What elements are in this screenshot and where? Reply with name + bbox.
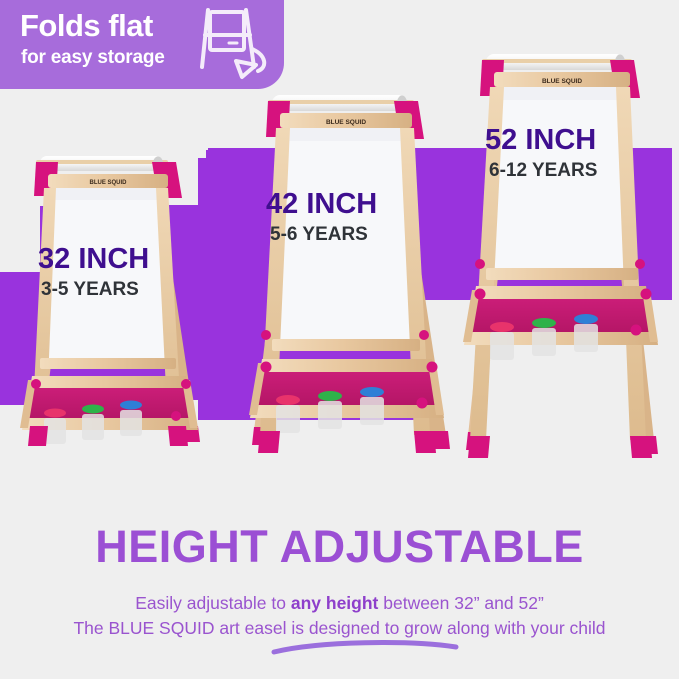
product-infographic: BLUE SQUID 32 INC [0,0,679,679]
brand-label-32: BLUE SQUID [89,180,127,186]
size-label-group-52: 52 INCH 6-12 YEARS [485,126,597,180]
brand-label-42: BLUE SQUID [326,119,366,126]
subline-1-emphasis: any height [291,593,379,613]
brand-label-52: BLUE SQUID [542,78,582,85]
age-label-52: 6-12 YEARS [489,161,597,180]
age-label-32: 3-5 YEARS [41,280,149,299]
size-label-group-42: 42 INCH 5-6 YEARS [266,190,377,244]
page-headline: HEIGHT ADJUSTABLE [0,524,679,569]
size-label-32: 32 INCH [38,245,149,274]
easel-52: BLUE SQUID [440,40,679,500]
subline-1-suffix: between 32” and 52” [378,593,543,613]
underline-swoosh [270,636,460,658]
subline-1: Easily adjustable to any height between … [0,592,679,615]
easel-42: BLUE SQUID [230,75,475,495]
size-label-42: 42 INCH [266,190,377,219]
folding-easel-icon [196,5,278,85]
easel-32: BLUE SQUID [0,130,235,490]
age-label-42: 5-6 YEARS [270,225,377,244]
badge-subtitle: for easy storage [21,48,165,67]
size-label-group-32: 32 INCH 3-5 YEARS [38,245,149,299]
subline-1-prefix: Easily adjustable to [135,593,291,613]
folds-flat-badge: Folds flat for easy storage [0,0,284,89]
size-label-52: 52 INCH [485,126,597,155]
badge-title: Folds flat [20,10,153,41]
